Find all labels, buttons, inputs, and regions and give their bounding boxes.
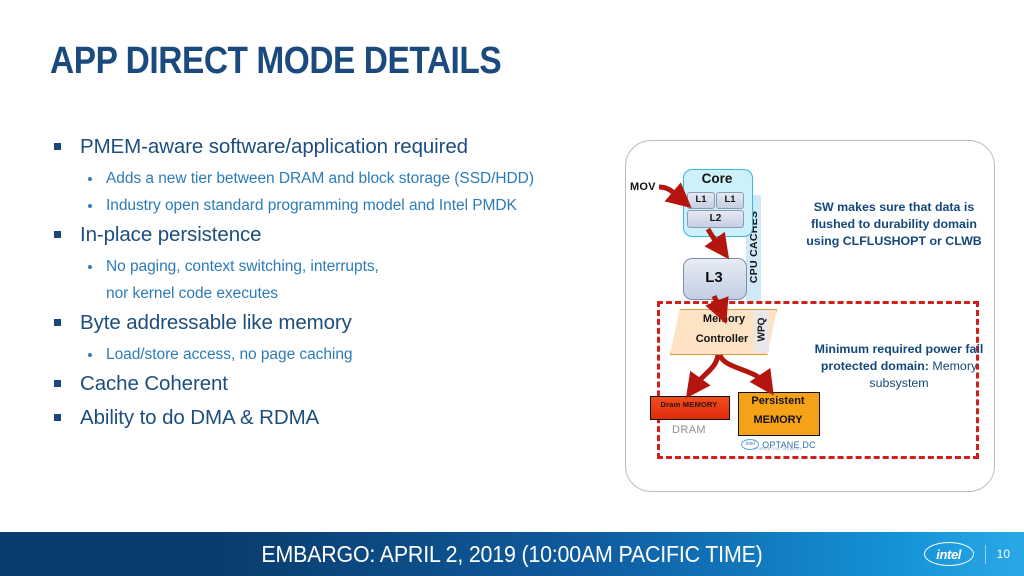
arrow-memory-controller-to-dram — [694, 355, 718, 387]
footer-divider — [985, 545, 986, 564]
arrow-memory-controller-to-persistent-memory — [720, 355, 766, 384]
bullet-marker-square — [54, 319, 61, 326]
bullet-text: Ability to do DMA & RDMA — [80, 403, 319, 433]
bullet-text: Load/store access, no page caching — [106, 342, 352, 368]
bullet-text: nor kernel code executes — [106, 281, 278, 307]
bullet-item-level1: Byte addressable like memory — [50, 308, 620, 338]
bullet-item-level2: Load/store access, no page caching — [50, 342, 620, 368]
bullet-marker-dot — [88, 204, 92, 208]
bullet-marker-dot — [88, 265, 92, 269]
page-number: 10 — [997, 547, 1010, 561]
bullet-text: Industry open standard programming model… — [106, 193, 517, 219]
bullet-marker-dot — [88, 353, 92, 357]
footer-bar: EMBARGO: APRIL 2, 2019 (10:00AM PACIFIC … — [0, 532, 1024, 576]
page-title: App Direct Mode Details — [50, 40, 501, 83]
bullet-text: Adds a new tier between DRAM and block s… — [106, 166, 534, 192]
bullet-text: Byte addressable like memory — [80, 308, 352, 338]
bullet-item-level2-continuation: nor kernel code executes — [50, 281, 620, 307]
bullet-marker-dot — [88, 177, 92, 181]
bullet-list: PMEM-aware software/application required… — [50, 132, 620, 437]
arrow-l3-to-memory-controller — [714, 296, 721, 311]
bullet-item-level1: PMEM-aware software/application required — [50, 132, 620, 162]
bullet-text: Cache Coherent — [80, 369, 228, 399]
architecture-diagram: CPU CACHES Core L1 L1 L2 L3 MOV Memory C… — [625, 140, 995, 492]
bullet-marker-spacer — [88, 292, 92, 296]
bullet-marker-square — [54, 231, 61, 238]
bullet-item-level2: No paging, context switching, interrupts… — [50, 254, 620, 280]
bullet-item-level1: Cache Coherent — [50, 369, 620, 399]
bullet-item-level1: In-place persistence — [50, 220, 620, 250]
bullet-text: No paging, context switching, interrupts… — [106, 254, 379, 280]
diagram-arrows — [626, 141, 994, 491]
arrow-mov-to-core — [659, 187, 681, 199]
bullet-marker-square — [54, 414, 61, 421]
bullet-text: PMEM-aware software/application required — [80, 132, 468, 162]
embargo-notice: EMBARGO: APRIL 2, 2019 (10:00AM PACIFIC … — [36, 532, 988, 576]
footer-right-group: intel 10 — [924, 532, 1010, 576]
bullet-text: In-place persistence — [80, 220, 261, 250]
bullet-marker-square — [54, 143, 61, 150]
intel-logo-icon: intel — [924, 542, 974, 566]
arrow-l2-to-l3 — [708, 229, 721, 248]
bullet-item-level2: Industry open standard programming model… — [50, 193, 620, 219]
bullet-item-level1: Ability to do DMA & RDMA — [50, 403, 620, 433]
bullet-marker-square — [54, 380, 61, 387]
bullet-item-level2: Adds a new tier between DRAM and block s… — [50, 166, 620, 192]
